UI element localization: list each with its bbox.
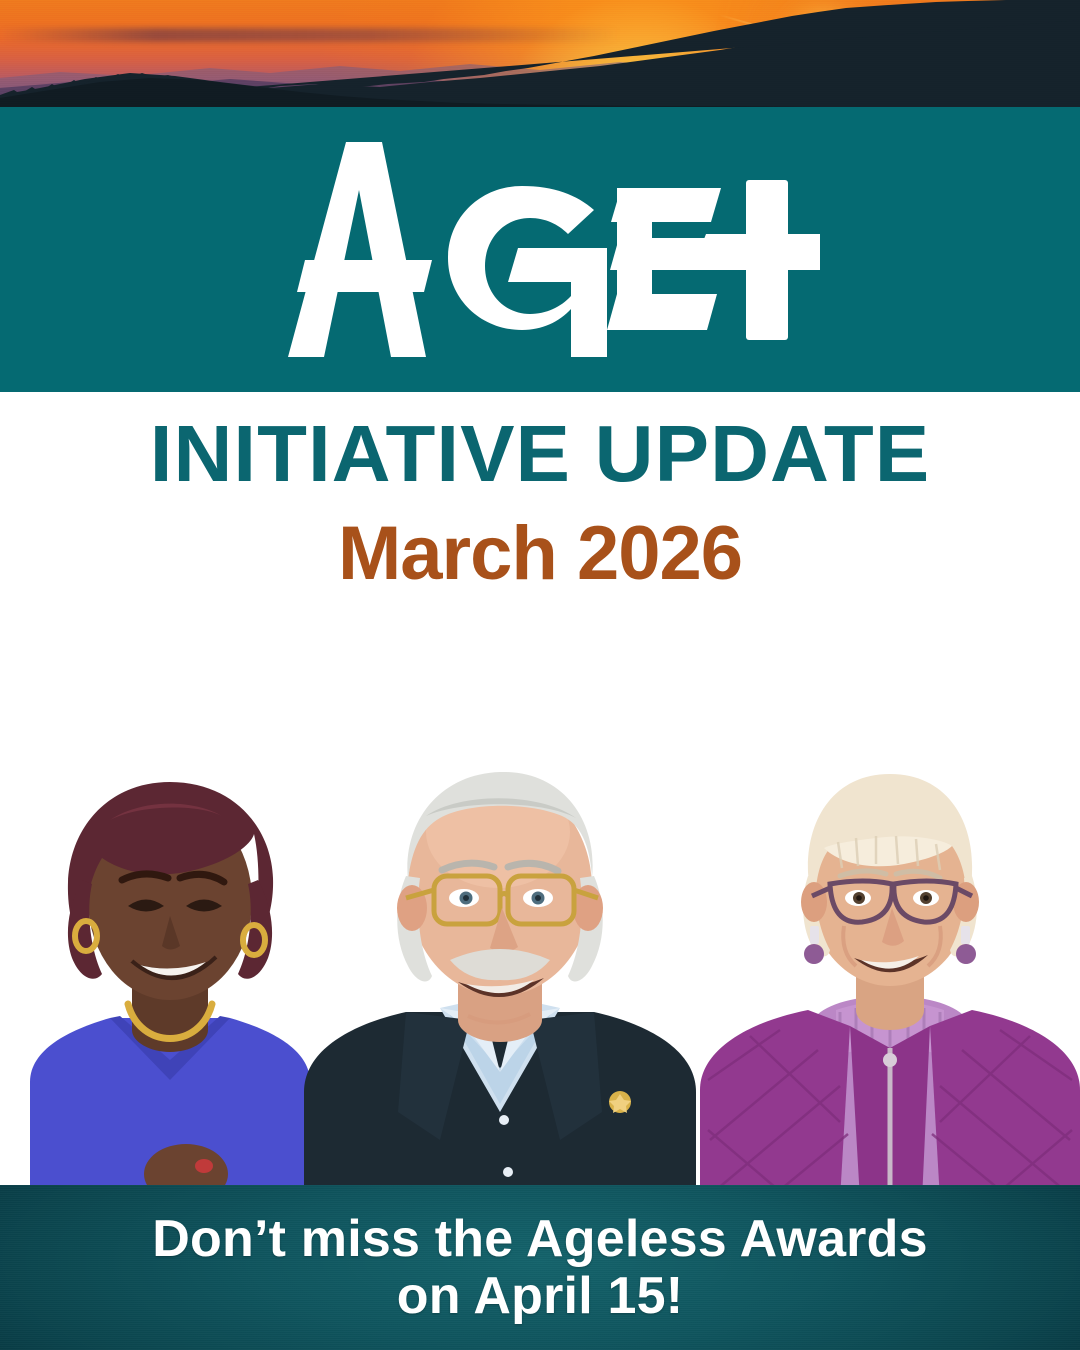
logo-band: AGE plus logo [0,107,1080,392]
lapel-pin-icon [609,1091,631,1113]
photo-grain-overlay [0,0,1080,107]
sunset-hero-image [0,0,1080,107]
issue-date: March 2026 [0,516,1080,592]
announcement-banner: Don’t miss the Ageless Awards on April 1… [0,1185,1080,1350]
portrait-center: Smiling older white man with white hair,… [290,720,710,1200]
title-block: INITIATIVE UPDATE March 2026 [0,392,1080,592]
banner-line-1: Don’t miss the Ageless Awards [152,1211,927,1267]
banner-line-2: on April 15! [397,1268,684,1324]
portrait-right: Smiling older white woman with short whi… [690,730,1080,1200]
poster-canvas: AGE plus logo INITIATIVE UPDATE March [0,0,1080,1350]
page-title: INITIATIVE UPDATE [0,414,1080,494]
age-plus-logo: AGE plus logo [260,142,820,357]
portrait-group: Smiling older Black woman with auburn bo… [0,720,1080,1200]
